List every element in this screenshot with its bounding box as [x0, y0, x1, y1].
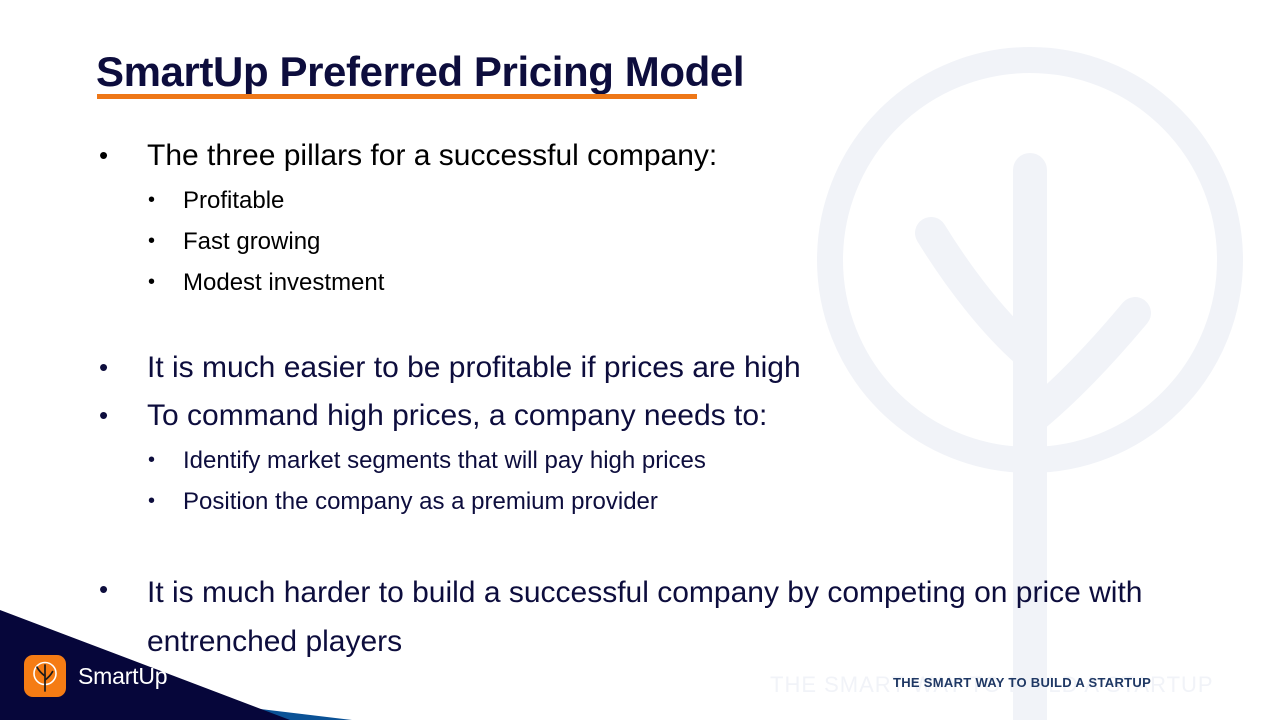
bullet-text: Position the company as a premium provid… — [183, 488, 658, 516]
bullet-dot-icon: • — [148, 447, 183, 470]
bullet-l1-harder-to-compete-on-price: • It is much harder to build a successfu… — [99, 568, 1189, 666]
bullet-dot-icon: • — [148, 228, 183, 251]
slide-body: • The three pillars for a successful com… — [0, 0, 1280, 720]
bullet-text: Identify market segments that will pay h… — [183, 447, 706, 475]
footer-tagline: THE SMART WAY TO BUILD A STARTUP — [893, 675, 1151, 690]
bullet-l1-easier-profitable: • It is much easier to be profitable if … — [99, 351, 801, 385]
bullet-dot-icon: • — [148, 187, 183, 210]
bullet-l2-position-premium-provider: • Position the company as a premium prov… — [148, 488, 658, 516]
logo-wordmark: SmartUp — [78, 663, 167, 690]
bullet-dot-icon: • — [99, 399, 147, 428]
bullet-text: It is much harder to build a successful … — [147, 568, 1189, 666]
bullet-l2-modest-investment: • Modest investment — [148, 269, 384, 297]
bullet-l1-command-high-prices: • To command high prices, a company need… — [99, 399, 767, 433]
page-title: SmartUp Preferred Pricing Model — [96, 48, 744, 96]
bullet-text: It is much easier to be profitable if pr… — [147, 351, 801, 385]
bullet-dot-icon: • — [148, 488, 183, 511]
bullet-dot-icon: • — [148, 269, 183, 292]
bullet-l2-profitable: • Profitable — [148, 187, 284, 215]
bullet-l1-three-pillars: • The three pillars for a successful com… — [99, 139, 717, 173]
bullet-text: The three pillars for a successful compa… — [147, 139, 717, 173]
bullet-text: Profitable — [183, 187, 284, 215]
bullet-text: Modest investment — [183, 269, 384, 297]
smartup-logo[interactable]: SmartUp — [24, 655, 167, 697]
bullet-text: To command high prices, a company needs … — [147, 399, 767, 433]
tree-in-rounded-square-icon — [24, 655, 66, 697]
bullet-dot-icon: • — [99, 351, 147, 380]
bullet-l2-fast-growing: • Fast growing — [148, 228, 320, 256]
bullet-l2-identify-market-segments: • Identify market segments that will pay… — [148, 447, 706, 475]
slide-canvas: THE SMART WAY TO BUILD A STARTUP SmartUp… — [0, 0, 1280, 720]
bullet-text: Fast growing — [183, 228, 320, 256]
title-underline-rule — [97, 94, 697, 99]
bullet-dot-icon: • — [99, 139, 147, 168]
bullet-dot-icon: • — [99, 568, 147, 602]
